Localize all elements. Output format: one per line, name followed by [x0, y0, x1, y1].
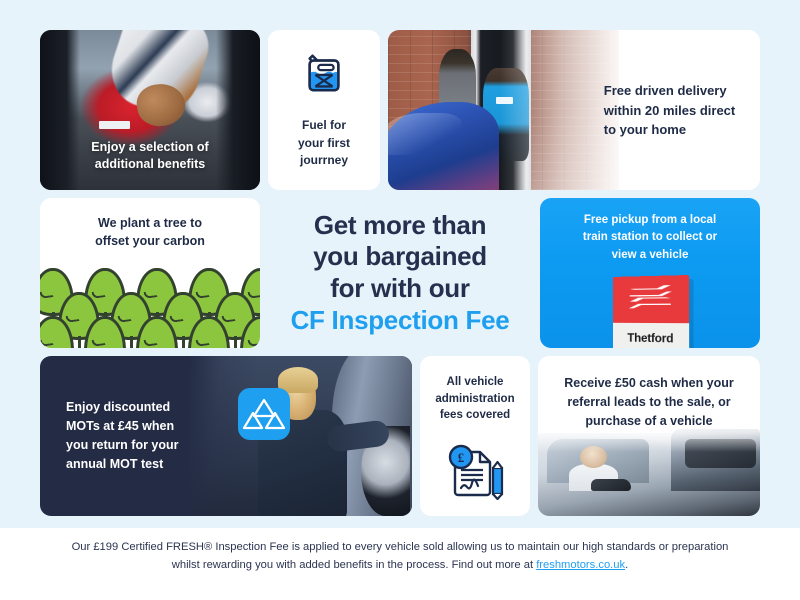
freshmotors-link[interactable]: freshmotors.co.uk	[536, 559, 625, 571]
station-sign: Thetford	[611, 276, 689, 348]
mot-text: Enjoy discounted MOTs at £45 when you re…	[66, 398, 196, 474]
footer-text-part2: .	[625, 559, 628, 571]
photo-car-windscreen	[388, 113, 462, 155]
card-fuel[interactable]: Fuel for your first jourrney	[268, 30, 380, 190]
mot-text-line3: you return for your	[66, 436, 196, 455]
mechanic-photo	[189, 356, 412, 516]
admin-label-line3: fees covered	[435, 407, 514, 424]
train-title-line2: train station to collect or	[554, 229, 746, 246]
mot-text-line2: MOTs at £45 when	[66, 417, 196, 436]
fuel-label: Fuel for your first jourrney	[298, 117, 350, 169]
card-additional-benefits[interactable]: Enjoy a selection of additional benefits	[40, 30, 260, 190]
photo-wing-mirror	[591, 479, 631, 491]
pound-symbol: £	[458, 450, 465, 465]
delivery-text-line3: to your home	[604, 120, 749, 140]
card-free-driven-delivery[interactable]: Free driven delivery within 20 miles dir…	[388, 30, 760, 190]
trees-title-line2: offset your carbon	[40, 232, 260, 250]
fuel-label-line2: your first	[298, 135, 350, 152]
tree-crown	[40, 316, 74, 348]
mot-logo-icon	[238, 388, 290, 440]
card-plant-a-tree[interactable]: We plant a tree to offset your carbon	[40, 198, 260, 348]
tree-icon	[188, 316, 230, 348]
footer-disclaimer: Our £199 Certified FRESH® Inspection Fee…	[0, 538, 800, 574]
fuel-label-line3: jourrney	[298, 152, 350, 169]
card-admin-fees[interactable]: All vehicle administration fees covered …	[420, 356, 530, 516]
tree-trunk	[78, 336, 81, 348]
tree-icon	[40, 316, 74, 348]
benefits-caption-line1: Enjoy a selection of	[54, 139, 246, 157]
train-title-line1: Free pickup from a local	[554, 212, 746, 229]
tree-icon	[136, 316, 178, 348]
delivery-text: Free driven delivery within 20 miles dir…	[604, 81, 749, 140]
page-title: Get more than you bargained for with our…	[291, 210, 510, 337]
trees-title-line1: We plant a tree to	[40, 214, 260, 232]
sign-board: Thetford	[613, 275, 689, 348]
benefits-caption: Enjoy a selection of additional benefits	[40, 129, 260, 191]
referral-text-line2: referral leads to the sale, or	[550, 393, 748, 412]
tree-icon	[84, 316, 126, 348]
referral-text-line1: Receive £50 cash when your	[550, 374, 748, 393]
card-headline: Get more than you bargained for with our…	[268, 198, 532, 348]
tree-crown	[136, 316, 178, 348]
sign-red-panel	[613, 275, 689, 323]
admin-label: All vehicle administration fees covered	[435, 374, 514, 424]
infographic-page: Enjoy a selection of additional benefits	[0, 0, 800, 600]
admin-label-line1: All vehicle	[435, 374, 514, 391]
document-pound-pen-icon: £	[444, 442, 506, 505]
mot-text-line1: Enjoy discounted	[66, 398, 196, 417]
card-referral-cash[interactable]: Receive £50 cash when your referral lead…	[538, 356, 760, 516]
tree-trunk	[130, 336, 133, 348]
british-rail-sign-icon	[628, 283, 673, 314]
tree-pattern	[40, 262, 260, 348]
fuel-label-line1: Fuel for	[298, 117, 350, 134]
headline-line2: you bargained	[313, 241, 487, 271]
tree-crown	[240, 316, 260, 348]
train-title: Free pickup from a local train station t…	[540, 212, 760, 264]
referral-text: Receive £50 cash when your referral lead…	[538, 374, 760, 431]
trees-title: We plant a tree to offset your carbon	[40, 214, 260, 250]
headline-line1: Get more than	[314, 210, 486, 240]
station-name: Thetford	[627, 331, 673, 346]
tree-trunk	[182, 336, 185, 348]
admin-label-line2: administration	[435, 391, 514, 408]
referral-text-line3: purchase of a vehicle	[550, 412, 748, 431]
footer-text-part1: Our £199 Certified FRESH® Inspection Fee…	[72, 541, 729, 571]
benefits-card-grid: Enjoy a selection of additional benefits	[40, 30, 760, 525]
delivery-text-line1: Free driven delivery	[604, 81, 749, 101]
benefits-caption-line2: additional benefits	[54, 156, 246, 174]
mot-text-line4: annual MOT test	[66, 455, 196, 474]
card-train-station-pickup[interactable]: Free pickup from a local train station t…	[540, 198, 760, 348]
tree-crown	[188, 316, 230, 348]
tree-icon	[240, 316, 260, 348]
tree-crown	[84, 316, 126, 348]
fuel-can-icon	[301, 50, 347, 101]
headline-line3: for with our	[330, 273, 469, 303]
delivery-text-line2: within 20 miles direct	[604, 100, 749, 120]
headline-block: Get more than you bargained for with our…	[268, 198, 532, 348]
headline-accent: CF Inspection Fee	[291, 305, 510, 337]
sign-white-panel: Thetford	[613, 323, 689, 348]
card-discounted-mot[interactable]: Enjoy discounted MOTs at £45 when you re…	[40, 356, 412, 516]
tree-trunk	[234, 336, 237, 348]
train-title-line3: view a vehicle	[554, 247, 746, 264]
